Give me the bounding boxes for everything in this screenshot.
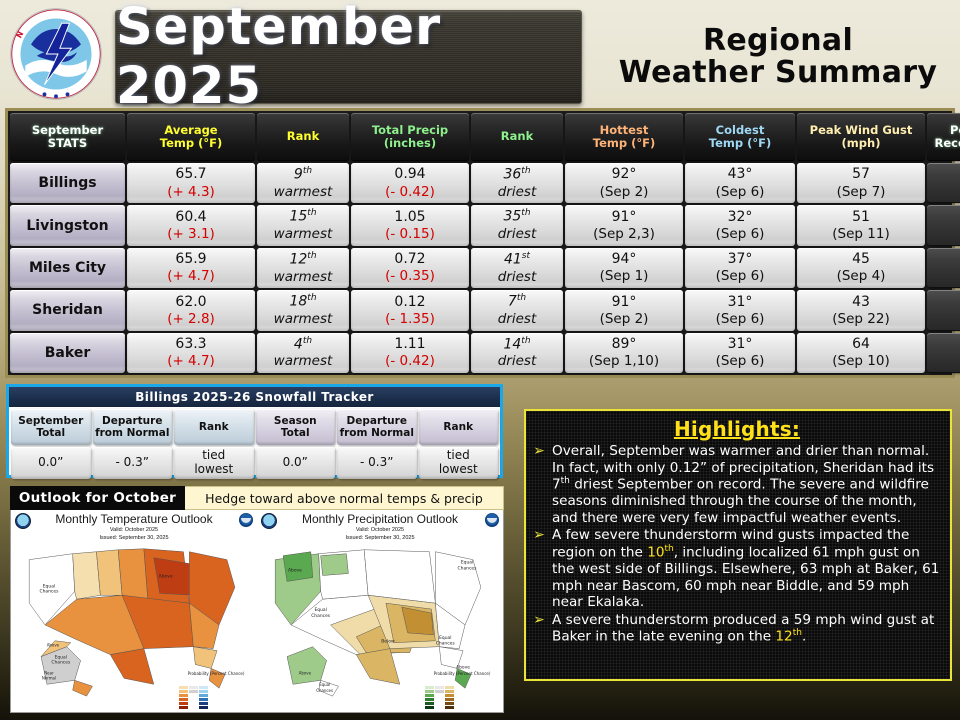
highlight-item-2: ➢A severe thunderstorm produced a 59 mph… xyxy=(532,612,942,646)
stats-header-1: AverageTemp (°F) xyxy=(127,113,255,161)
stats-header-line1: Rank xyxy=(501,129,533,143)
temperature-outlook-map: Monthly Temperature Outlook Valid: Octob… xyxy=(11,510,257,712)
svg-text:Chances: Chances xyxy=(458,566,478,572)
stats-record-began-0: 1934 xyxy=(927,163,960,203)
highlight-text-0: Overall, September was warmer and drier … xyxy=(552,443,942,526)
stats-header-line1: Average xyxy=(164,123,217,137)
temp-legend xyxy=(179,677,253,709)
highlights-title: Highlights: xyxy=(532,417,942,441)
stats-precip-rank-4: 14thdriest xyxy=(471,333,563,373)
svg-text:Chances: Chances xyxy=(39,588,59,594)
snow-header-2: Rank xyxy=(174,409,254,445)
stats-record-began-4: 1998 xyxy=(927,333,960,373)
temp-map-title: Monthly Temperature Outlook xyxy=(11,512,257,526)
snow-value-4: - 0.3” xyxy=(337,447,417,479)
stats-record-began-2: 1937 xyxy=(927,248,960,288)
stats-header-line1: Coldest xyxy=(716,123,765,137)
stats-header-line2: Temp (°F) xyxy=(593,136,655,150)
stats-coldest-2: 37°(Sep 6) xyxy=(685,248,795,288)
snow-header-0: SeptemberTotal xyxy=(11,409,91,445)
stats-header-2: Rank xyxy=(257,113,349,161)
stats-hottest-3: 91°(Sep 2) xyxy=(565,290,683,330)
snow-header-5: Rank xyxy=(419,409,499,445)
stats-avg-temp-2: 65.9(+ 4.7) xyxy=(127,248,255,288)
stats-coldest-1: 32°(Sep 6) xyxy=(685,205,795,245)
stats-header-line2: Temp (°F) xyxy=(709,136,771,150)
svg-text:Chances: Chances xyxy=(316,688,333,693)
svg-text:Equal: Equal xyxy=(439,635,451,641)
bullet-arrow-icon: ➢ xyxy=(532,612,546,646)
nws-logo-icon: N xyxy=(8,6,104,102)
highlight-item-0: ➢Overall, September was warmer and drier… xyxy=(532,443,942,526)
highlights-panel: Highlights: ➢Overall, September was warm… xyxy=(524,409,952,681)
month-title: September 2025 xyxy=(116,0,581,116)
snow-value-2: tiedlowest xyxy=(174,447,254,479)
stats-header-line1: September xyxy=(32,123,103,137)
stats-gust-1: 51(Sep 11) xyxy=(797,205,925,245)
stats-avg-temp-1: 60.4(+ 3.1) xyxy=(127,205,255,245)
stats-header-line2: (mph) xyxy=(842,136,881,150)
stats-precip-4: 1.11(- 0.42) xyxy=(351,333,469,373)
stats-temp-rank-4: 4thwarmest xyxy=(257,333,349,373)
outlook-maps: Monthly Temperature Outlook Valid: Octob… xyxy=(10,510,504,713)
snow-header-3: SeasonTotal xyxy=(256,409,336,445)
svg-text:Equal: Equal xyxy=(461,560,473,566)
svg-text:Chances: Chances xyxy=(436,641,456,647)
snow-value-1: - 0.3” xyxy=(93,447,173,479)
stats-header-line1: Hottest xyxy=(600,123,649,137)
stats-header-7: Peak Wind Gust(mph) xyxy=(797,113,925,161)
page-title-line2: Weather Summary xyxy=(619,57,937,89)
outlook-tag: Outlook for October xyxy=(10,486,185,510)
stats-header-line2: (inches) xyxy=(384,136,436,150)
stats-avg-temp-4: 63.3(+ 4.7) xyxy=(127,333,255,373)
stats-header-line1: Total Precip xyxy=(372,123,448,137)
stats-coldest-3: 31°(Sep 6) xyxy=(685,290,795,330)
highlight-text-2: A severe thunderstorm produced a 59 mph … xyxy=(552,612,942,646)
stats-record-began-3: 1907 xyxy=(927,290,960,330)
temp-legend-title: Probability (Percent Chance) xyxy=(179,671,253,676)
highlight-item-1: ➢A few severe thunderstorm wind gusts im… xyxy=(532,527,942,610)
stats-gust-3: 43(Sep 22) xyxy=(797,290,925,330)
precip-legend xyxy=(425,677,499,709)
bullet-arrow-icon: ➢ xyxy=(532,527,546,610)
snowfall-tracker: Billings 2025-26 Snowfall Tracker Septem… xyxy=(6,384,503,478)
stats-site-billings: Billings xyxy=(10,163,125,203)
stats-gust-0: 57(Sep 7) xyxy=(797,163,925,203)
snowfall-grid: SeptemberTotalDeparturefrom NormalRankSe… xyxy=(9,407,500,475)
outlook-note: Hedge toward above normal temps & precip xyxy=(185,486,504,510)
svg-text:Above: Above xyxy=(299,670,312,675)
stats-avg-temp-3: 62.0(+ 2.8) xyxy=(127,290,255,330)
stats-temp-rank-2: 12thwarmest xyxy=(257,248,349,288)
precipitation-outlook-map: Monthly Precipitation Outlook Valid: Oct… xyxy=(257,510,503,712)
stats-header-line2: Temp (°F) xyxy=(160,136,222,150)
stats-header-line1: Rank xyxy=(287,129,319,143)
bullet-arrow-icon: ➢ xyxy=(532,443,546,526)
stats-precip-2: 0.72(- 0.35) xyxy=(351,248,469,288)
svg-text:Below: Below xyxy=(381,639,395,645)
svg-text:Equal: Equal xyxy=(319,682,330,687)
stats-hottest-1: 91°(Sep 2,3) xyxy=(565,205,683,245)
page-title-line1: Regional xyxy=(703,25,853,57)
precip-legend-title: Probability (Percent Chance) xyxy=(425,671,499,676)
stats-header-line2: STATS xyxy=(48,136,87,150)
stats-site-sheridan: Sheridan xyxy=(10,290,125,330)
stats-header-line1: Period of xyxy=(950,123,960,137)
stats-gust-4: 64(Sep 10) xyxy=(797,333,925,373)
stats-header-line2: Record Began xyxy=(934,136,960,150)
svg-text:Chances: Chances xyxy=(51,660,71,666)
snow-value-5: tiedlowest xyxy=(419,447,499,479)
snow-header-1: Departurefrom Normal xyxy=(93,409,173,445)
stats-header-6: ColdestTemp (°F) xyxy=(685,113,795,161)
stats-header-3: Total Precip(inches) xyxy=(351,113,469,161)
svg-text:Equal: Equal xyxy=(314,607,326,613)
stats-temp-rank-3: 18thwarmest xyxy=(257,290,349,330)
stats-header-0: SeptemberSTATS xyxy=(10,113,125,161)
stats-site-baker: Baker xyxy=(10,333,125,373)
month-title-plate: September 2025 xyxy=(115,10,582,104)
stats-coldest-4: 31°(Sep 6) xyxy=(685,333,795,373)
svg-text:Above: Above xyxy=(159,573,173,579)
stats-header-5: HottestTemp (°F) xyxy=(565,113,683,161)
highlights-list: ➢Overall, September was warmer and drier… xyxy=(532,443,942,646)
october-outlook: Outlook for October Hedge toward above n… xyxy=(10,486,504,712)
svg-text:Above: Above xyxy=(288,568,302,574)
svg-text:Above: Above xyxy=(47,643,60,648)
stats-gust-2: 45(Sep 4) xyxy=(797,248,925,288)
stats-temp-rank-0: 9thwarmest xyxy=(257,163,349,203)
stats-table: SeptemberSTATSAverageTemp (°F)RankTotal … xyxy=(5,108,955,378)
stats-hottest-2: 94°(Sep 1) xyxy=(565,248,683,288)
stats-precip-rank-1: 35thdriest xyxy=(471,205,563,245)
snowfall-title: Billings 2025-26 Snowfall Tracker xyxy=(9,387,500,407)
stats-coldest-0: 43°(Sep 6) xyxy=(685,163,795,203)
snow-value-0: 0.0” xyxy=(11,447,91,479)
stats-header-line1: Peak Wind Gust xyxy=(810,123,913,137)
stats-hottest-0: 92°(Sep 2) xyxy=(565,163,683,203)
stats-precip-rank-0: 36thdriest xyxy=(471,163,563,203)
stats-precip-3: 0.12(- 1.35) xyxy=(351,290,469,330)
stats-header-8: Period ofRecord Began xyxy=(927,113,960,161)
stats-avg-temp-0: 65.7(+ 4.3) xyxy=(127,163,255,203)
snow-header-4: Departurefrom Normal xyxy=(337,409,417,445)
stats-site-miles-city: Miles City xyxy=(10,248,125,288)
outlook-header: Outlook for October Hedge toward above n… xyxy=(10,486,504,510)
svg-text:Chances: Chances xyxy=(311,613,331,619)
snow-value-3: 0.0” xyxy=(256,447,336,479)
svg-text:Normal: Normal xyxy=(42,675,56,680)
highlight-text-1: A few severe thunderstorm wind gusts imp… xyxy=(552,527,942,610)
precip-map-title: Monthly Precipitation Outlook xyxy=(257,512,503,526)
stats-precip-rank-3: 7thdriest xyxy=(471,290,563,330)
stats-hottest-4: 89°(Sep 1,10) xyxy=(565,333,683,373)
stats-precip-1: 1.05(- 0.15) xyxy=(351,205,469,245)
stats-header-4: Rank xyxy=(471,113,563,161)
stats-site-livingston: Livingston xyxy=(10,205,125,245)
stats-temp-rank-1: 15thwarmest xyxy=(257,205,349,245)
stats-precip-rank-2: 41stdriest xyxy=(471,248,563,288)
svg-text:Above: Above xyxy=(456,664,470,670)
stats-precip-0: 0.94(- 0.42) xyxy=(351,163,469,203)
poster-root: N September 2025 Regional Weather Summar… xyxy=(0,0,960,720)
stats-record-began-1: 1948 xyxy=(927,205,960,245)
page-title: Regional Weather Summary xyxy=(600,14,956,100)
